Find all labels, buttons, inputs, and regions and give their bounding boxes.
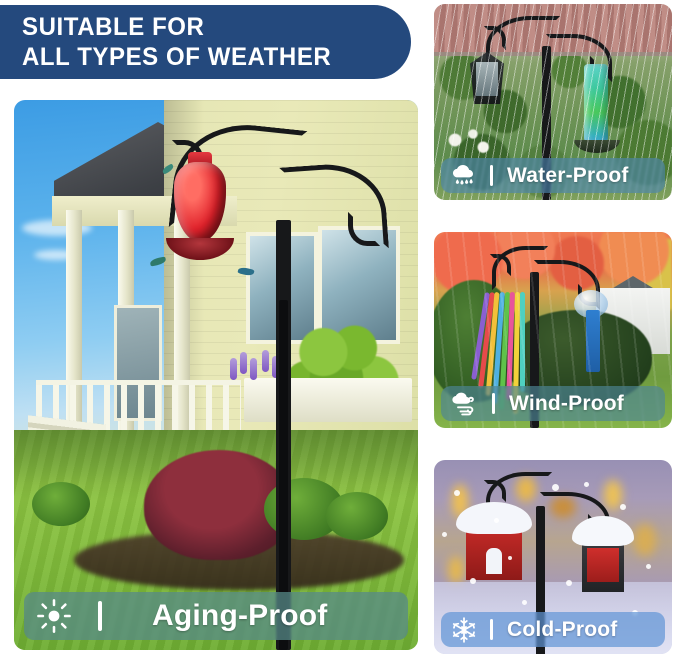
label-text-aging-proof: Aging-Proof	[152, 599, 328, 633]
panel-wind-proof: Wind-Proof	[434, 232, 672, 428]
header-banner: SUITABLE FOR ALL TYPES OF WEATHER	[0, 5, 411, 79]
panel-cold-proof: Cold-Proof	[434, 460, 672, 654]
falling-snow	[494, 518, 499, 523]
snowflake-icon	[450, 616, 478, 644]
falling-snow	[620, 504, 626, 510]
lavender-flower	[250, 358, 257, 380]
banner-line-2: ALL TYPES OF WEATHER	[22, 42, 395, 72]
falling-snow	[470, 578, 476, 584]
sun-icon	[36, 598, 72, 634]
banner-line-1: SUITABLE FOR	[22, 12, 395, 42]
falling-snow	[584, 482, 589, 487]
falling-snow	[552, 484, 559, 491]
label-bar-water-proof: Water-Proof	[441, 158, 665, 193]
label-divider	[490, 619, 493, 640]
feeder-red-panel	[587, 548, 619, 582]
green-shrub	[32, 482, 90, 526]
infographic-canvas: SUITABLE FOR ALL TYPES OF WEATHER	[0, 0, 679, 658]
falling-snow	[454, 490, 460, 496]
label-text-cold-proof: Cold-Proof	[507, 618, 617, 642]
rain-cloud-icon	[450, 163, 478, 189]
main-photo-aging-proof: Aging-Proof	[14, 100, 418, 650]
label-bar-cold-proof: Cold-Proof	[441, 612, 665, 647]
label-bar-aging-proof: Aging-Proof	[24, 592, 408, 640]
lavender-flower	[262, 350, 269, 372]
label-divider	[490, 165, 493, 186]
label-divider	[492, 393, 495, 414]
bokeh-light	[634, 524, 656, 556]
falling-snow	[522, 600, 527, 605]
window-planter-box	[244, 378, 412, 422]
label-text-wind-proof: Wind-Proof	[509, 392, 624, 416]
lavender-flower	[240, 352, 247, 374]
falling-snow	[566, 580, 572, 586]
green-shrub	[326, 492, 388, 540]
bokeh-light	[448, 556, 464, 584]
falling-snow	[508, 556, 512, 560]
falling-snow	[646, 564, 651, 569]
label-divider	[98, 601, 102, 631]
wind-cloud-icon	[450, 391, 480, 417]
birdhouse-entrance	[486, 548, 502, 574]
falling-snow	[442, 532, 447, 537]
lavender-flower	[230, 358, 237, 380]
panel-water-proof: Water-Proof	[434, 4, 672, 200]
label-bar-wind-proof: Wind-Proof	[441, 386, 665, 421]
label-text-water-proof: Water-Proof	[507, 164, 629, 188]
